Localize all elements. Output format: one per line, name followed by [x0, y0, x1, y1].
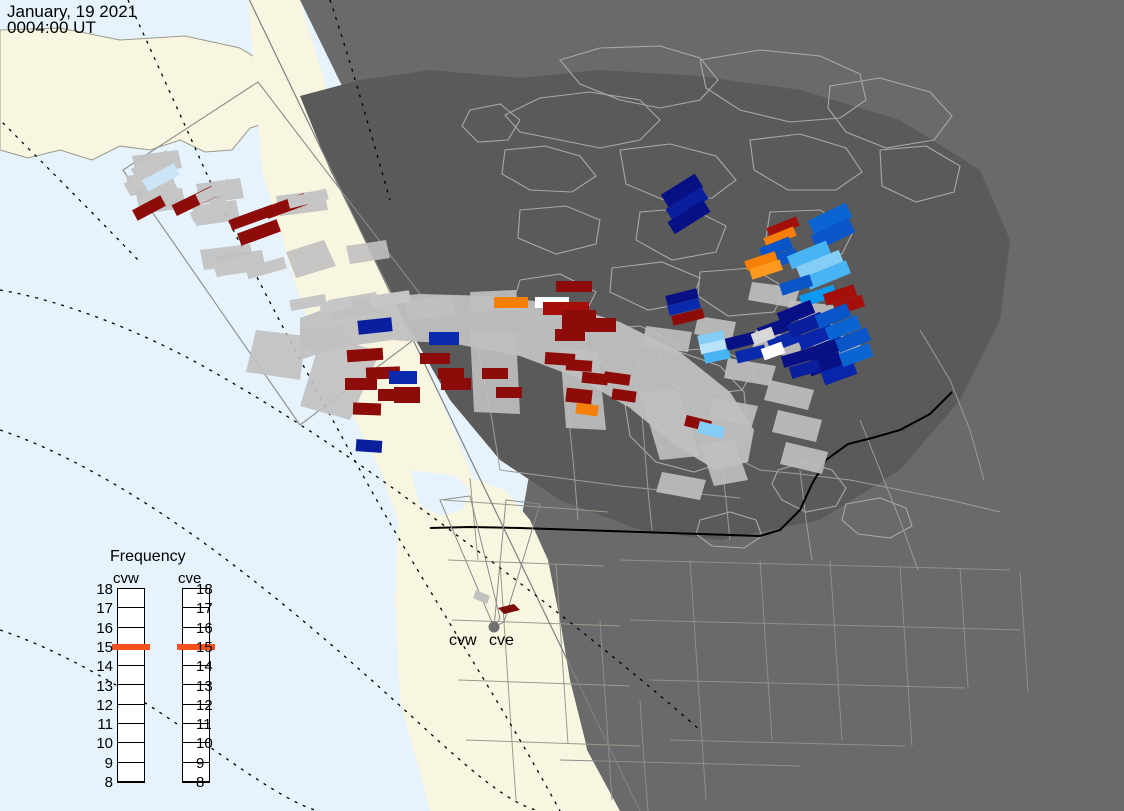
velocity-cell: [353, 403, 381, 416]
frequency-tick-label-left: 14: [89, 658, 113, 675]
velocity-cell: [482, 368, 508, 379]
velocity-cell: [347, 348, 384, 362]
frequency-tick-label-left: 8: [89, 774, 113, 791]
time-text: 0004:00 UT: [7, 19, 137, 36]
frequency-segment: [118, 724, 144, 743]
velocity-cell: [389, 371, 417, 384]
frequency-segment: [118, 705, 144, 724]
frequency-tick-label-left: 15: [89, 639, 113, 656]
frequency-tick-label-left: 13: [89, 678, 113, 695]
radar-site-marker: [489, 622, 500, 633]
site-label-cvw: cvw: [449, 632, 477, 650]
frequency-marker: [112, 644, 150, 650]
site-label-cve: cve: [489, 632, 514, 650]
frequency-tick-label-left: 16: [89, 620, 113, 637]
frequency-tick-label-right: 11: [196, 716, 220, 733]
frequency-tick-label-right: 10: [196, 735, 220, 752]
frequency-tick-label-right: 14: [196, 658, 220, 675]
frequency-tick-label-right: 12: [196, 697, 220, 714]
frequency-segment: [118, 686, 144, 705]
frequency-tick-label-left: 11: [89, 716, 113, 733]
velocity-cell: [420, 353, 450, 364]
frequency-bar-cvw[interactable]: [117, 588, 145, 783]
velocity-cell: [356, 439, 383, 453]
frequency-column-header-cvw: cvw: [113, 570, 139, 587]
frequency-segment: [118, 666, 144, 685]
velocity-cell: [494, 297, 528, 308]
frequency-tick-label-left: 12: [89, 697, 113, 714]
velocity-cell: [556, 281, 592, 292]
frequency-tick-label-right: 9: [196, 755, 220, 772]
frequency-segment: [118, 608, 144, 627]
frequency-tick-label-left: 17: [89, 600, 113, 617]
velocity-cell: [429, 332, 459, 345]
velocity-cell: [584, 318, 616, 332]
frequency-tick-label-right: 17: [196, 600, 220, 617]
frequency-legend-title: Frequency: [110, 548, 186, 566]
radar-map-page: January, 19 20210004:00 UT Velocity (m/s…: [0, 0, 1124, 811]
frequency-tick-label-right: 13: [196, 678, 220, 695]
frequency-tick-label-right: 15: [196, 639, 220, 656]
frequency-tick-label-left: 9: [89, 755, 113, 772]
frequency-segment: [118, 763, 144, 782]
frequency-tick-label-left: 10: [89, 735, 113, 752]
velocity-cell: [566, 359, 593, 372]
velocity-cell: [441, 378, 471, 390]
frequency-segment: [118, 589, 144, 608]
frequency-tick-label-left: 18: [89, 581, 113, 598]
map-canvas[interactable]: [0, 0, 1124, 811]
frequency-tick-label-right: 8: [196, 774, 220, 791]
timestamp-block: January, 19 20210004:00 UT: [7, 3, 137, 36]
velocity-cell: [345, 378, 377, 390]
velocity-cell: [496, 387, 522, 398]
frequency-segment: [118, 743, 144, 762]
velocity-cell: [438, 368, 464, 379]
velocity-cell: [394, 387, 420, 403]
velocity-legend: Velocity (m/s) 5004003002001000-100-200-…: [960, 0, 1124, 340]
frequency-tick-label-right: 16: [196, 620, 220, 637]
frequency-tick-label-right: 18: [196, 581, 220, 598]
velocity-cell: [565, 388, 592, 405]
velocity-cell: [555, 329, 585, 341]
